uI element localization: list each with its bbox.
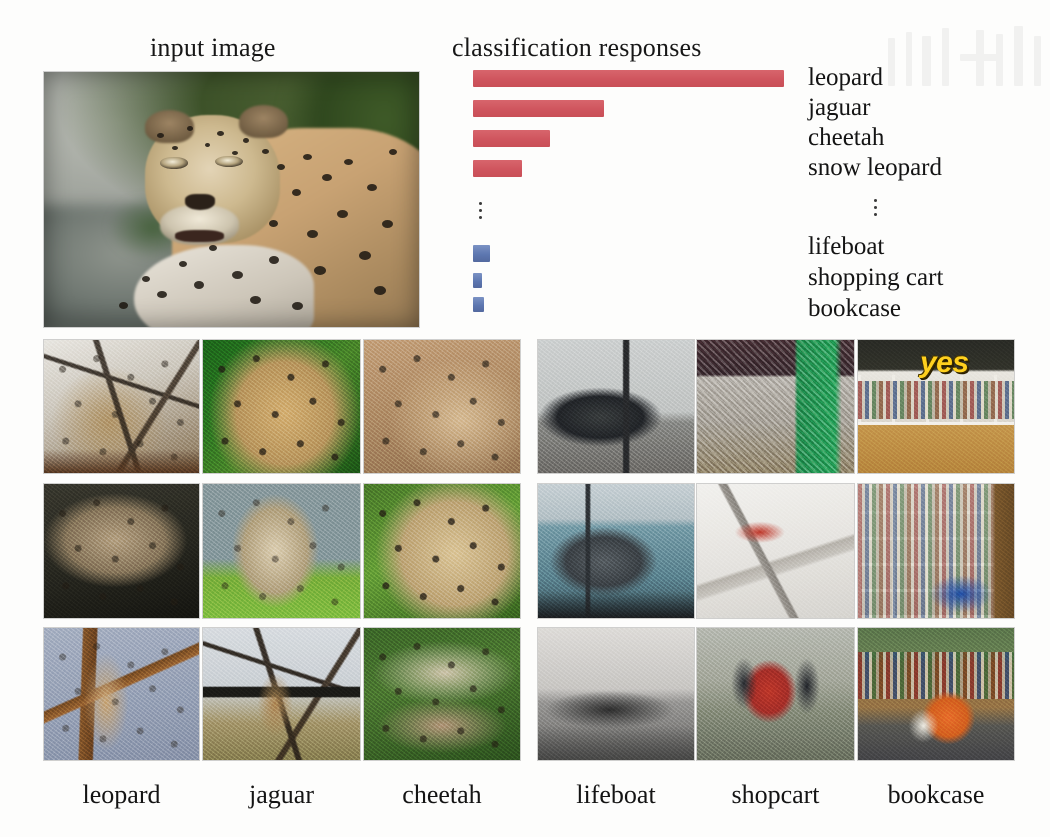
response-label-shopping-cart: shopping cart — [808, 265, 943, 290]
response-label-bookcase: bookcase — [808, 296, 901, 321]
retrieval-cell-lifeboat-row1 — [538, 340, 694, 473]
retrieval-cell-lifeboat-row2 — [538, 484, 694, 618]
bottom-label-shopcart: shopcart — [697, 780, 854, 810]
retrieval-cell-leopard-row1 — [44, 340, 199, 473]
retrieval-cell-shopcart-row2 — [697, 484, 854, 618]
classification-response-bar-chart — [473, 66, 803, 311]
bar-lifeboat — [473, 245, 490, 262]
retrieval-cell-jaguar-row3 — [203, 628, 360, 760]
bar-jaguar — [473, 100, 604, 117]
retrieval-cell-lifeboat-row3 — [538, 628, 694, 760]
input-image-title: input image — [150, 33, 276, 63]
retrieval-cell-shopcart-row3 — [697, 628, 854, 760]
bar-ellipsis — [479, 202, 482, 223]
bottom-label-leopard: leopard — [44, 780, 199, 810]
retrieval-cell-bookcase-row3 — [858, 628, 1014, 760]
response-label-jaguar: jaguar — [808, 95, 870, 120]
retrieval-cell-leopard-row3 — [44, 628, 199, 760]
retrieval-cell-jaguar-row1 — [203, 340, 360, 473]
retrieval-cell-shopcart-row1 — [697, 340, 854, 473]
retrieval-cell-bookcase-row2 — [858, 484, 1014, 618]
bottom-label-bookcase: bookcase — [858, 780, 1014, 810]
response-label-cheetah: cheetah — [808, 125, 884, 150]
bottom-label-jaguar: jaguar — [203, 780, 360, 810]
bar-snow-leopard — [473, 160, 522, 177]
background-watermark — [880, 8, 1050, 86]
retrieval-cell-bookcase-row1: yes — [858, 340, 1014, 473]
bottom-label-cheetah: cheetah — [364, 780, 520, 810]
bar-bookcase — [473, 297, 484, 312]
response-label-snow-leopard: snow leopard — [808, 155, 942, 180]
response-label-lifeboat: lifeboat — [808, 234, 884, 259]
retrieval-cell-jaguar-row2 — [203, 484, 360, 618]
response-label-ellipsis — [874, 199, 877, 220]
retrieval-cell-cheetah-row2 — [364, 484, 520, 618]
bar-shopping-cart — [473, 273, 482, 288]
retrieval-cell-cheetah-row1 — [364, 340, 520, 473]
retrieval-cell-cheetah-row3 — [364, 628, 520, 760]
bar-leopard — [473, 70, 784, 87]
classification-responses-title: classification responses — [452, 33, 702, 63]
retrieval-cell-leopard-row2 — [44, 484, 199, 618]
bar-cheetah — [473, 130, 550, 147]
input-image-photo — [44, 72, 419, 327]
bottom-label-lifeboat: lifeboat — [538, 780, 694, 810]
response-label-leopard: leopard — [808, 65, 883, 90]
